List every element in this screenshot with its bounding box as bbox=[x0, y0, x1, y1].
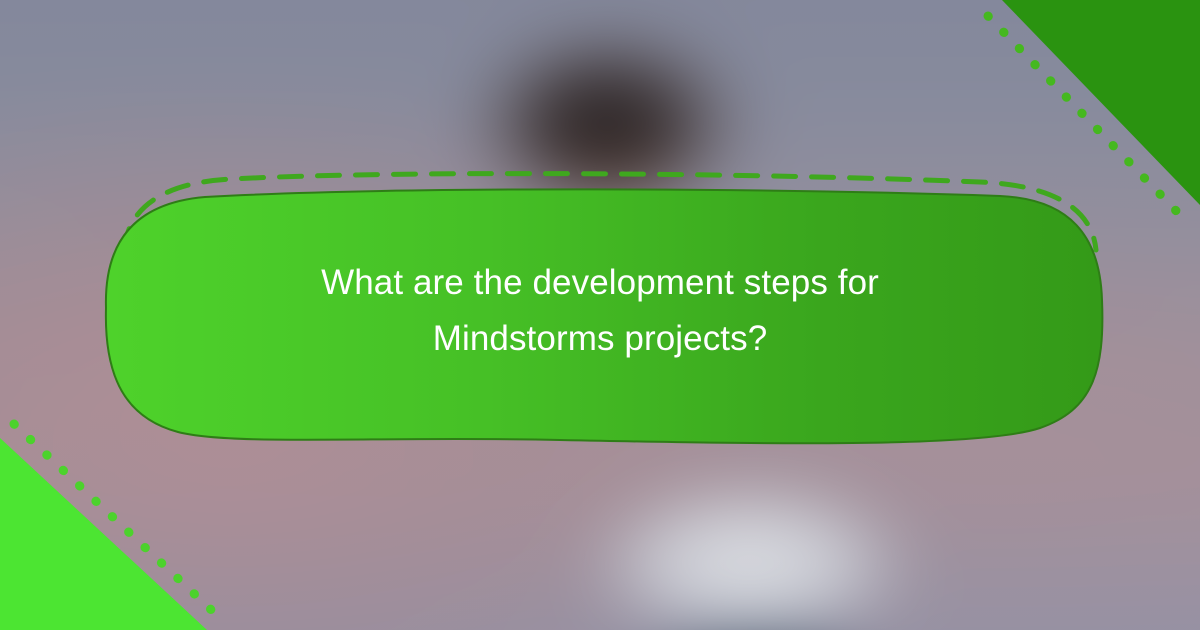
question-card-canvas: What are the development steps for Minds… bbox=[0, 0, 1200, 630]
question-blob bbox=[0, 0, 1200, 630]
blob-shape bbox=[106, 189, 1103, 443]
